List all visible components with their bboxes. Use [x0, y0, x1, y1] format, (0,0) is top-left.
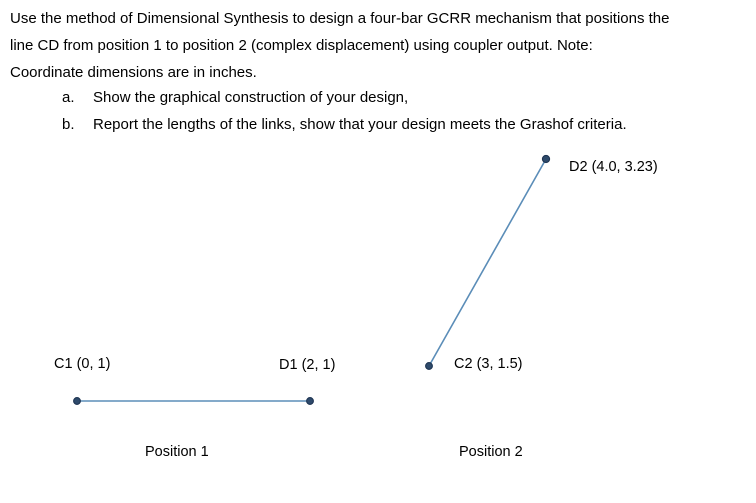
point-label-d1: D1 (2, 1) — [279, 356, 335, 374]
point-marker-d2 — [542, 155, 549, 162]
mechanism-diagram: C1 (0, 1) D1 (2, 1) C2 (3, 1.5) D2 (4.0,… — [0, 0, 756, 503]
point-marker-c2 — [426, 363, 433, 370]
point-marker-d1 — [307, 398, 314, 405]
point-label-c1: C1 (0, 1) — [54, 355, 110, 373]
point-label-c2: C2 (3, 1.5) — [454, 355, 523, 373]
position-2-segment — [429, 159, 546, 366]
position-1-caption: Position 1 — [145, 443, 209, 461]
point-label-d2: D2 (4.0, 3.23) — [569, 158, 658, 176]
diagram-canvas — [0, 0, 756, 503]
position-2-caption: Position 2 — [459, 443, 523, 461]
point-marker-c1 — [74, 398, 81, 405]
